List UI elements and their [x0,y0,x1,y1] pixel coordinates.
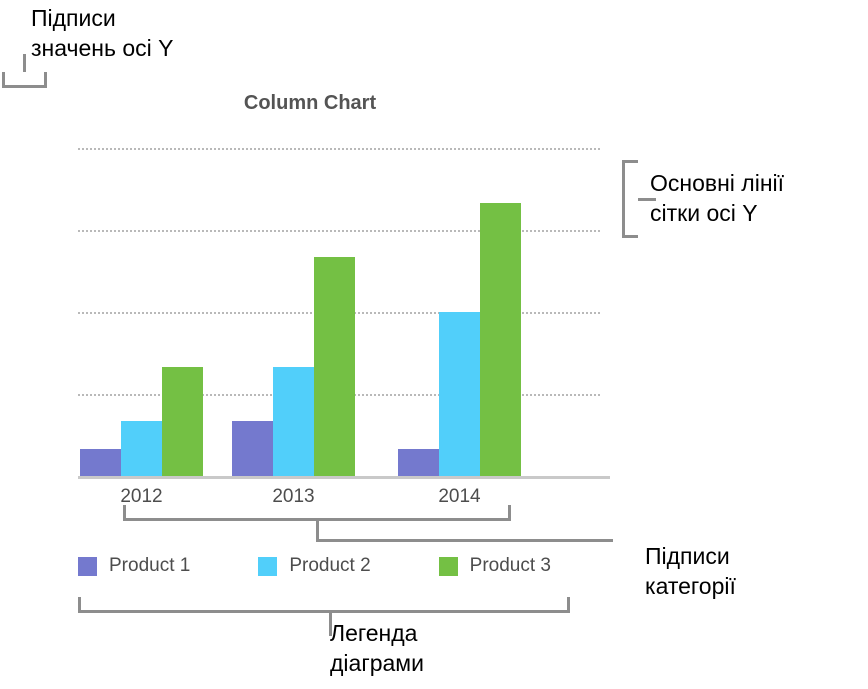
annotation-y-major-gridlines: Основні лінії сітки осі Y [650,168,784,228]
bar [232,421,273,476]
bar [121,421,162,476]
legend-item[interactable]: Product 3 [439,555,551,577]
x-axis-tick-label: 2013 [272,486,314,508]
x-axis-tick-label: 2012 [120,486,162,508]
annotation-chart-legend: Легенда діаграми [330,618,424,678]
chart-plot-area: 075150225300 201220132014 [0,0,620,500]
bar [439,312,480,476]
callout-stem-chart-legend [329,610,332,636]
legend-swatch-icon [258,557,277,576]
legend-swatch-icon [439,557,458,576]
legend-item-label: Product 3 [470,555,551,577]
chart-legend: Product 1Product 2Product 3 [78,555,551,577]
bar [314,257,355,476]
annotation-category-labels: Підписи категорії [645,541,736,601]
callout-bracket-chart-legend [78,597,570,613]
x-axis-tick-label: 2014 [438,486,480,508]
x-axis-baseline [78,476,610,479]
callout-stem-y-major-gridlines [638,198,656,201]
bar [480,203,521,476]
legend-item-label: Product 2 [289,555,370,577]
legend-item[interactable]: Product 2 [258,555,370,577]
legend-swatch-icon [78,557,97,576]
bar [398,449,439,476]
bar [162,367,203,476]
bar [273,367,314,476]
bar [80,449,121,476]
legend-item-label: Product 1 [109,555,190,577]
bars-layer [0,0,620,476]
legend-item[interactable]: Product 1 [78,555,190,577]
callout-bracket-y-major-gridlines [622,160,638,238]
callout-leader-category-labels [317,539,613,542]
